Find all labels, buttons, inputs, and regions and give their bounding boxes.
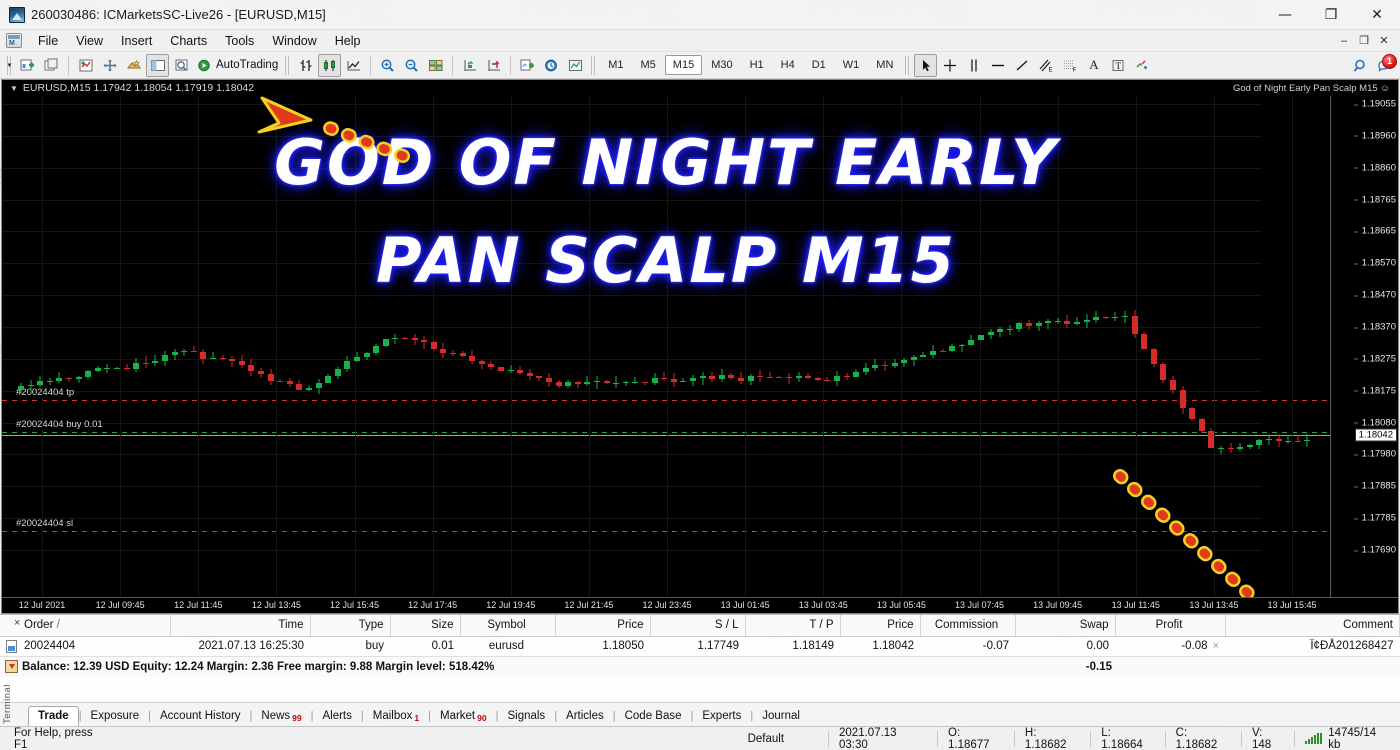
candlestick — [604, 380, 610, 384]
time-axis-tick: 13 Jul 03:45 — [799, 600, 848, 610]
vertical-line-icon[interactable] — [962, 54, 985, 77]
text-tool-glyph: A — [1089, 57, 1098, 73]
candle-body — [306, 388, 312, 390]
candle-body — [316, 383, 322, 388]
strategy-tester-icon[interactable] — [170, 54, 193, 77]
terminal-tab-account-history[interactable]: Account History — [151, 707, 250, 726]
grid-line-horizontal — [2, 104, 1262, 105]
timeframe-m30[interactable]: M30 — [703, 55, 740, 75]
toolbar-grip-4[interactable] — [905, 56, 910, 75]
candle-body — [402, 338, 408, 339]
candle-body — [1189, 408, 1195, 419]
candle-body — [911, 357, 917, 360]
candle-body — [680, 381, 686, 382]
terminal-tab-label: Articles — [566, 710, 604, 722]
candlestick — [335, 367, 341, 379]
terminal-tab-mailbox[interactable]: Mailbox1 — [364, 707, 428, 726]
candlestick — [1026, 320, 1032, 331]
candlestick — [757, 370, 763, 382]
candle-body — [1093, 317, 1099, 320]
time-axis-tick: 13 Jul 05:45 — [877, 600, 926, 610]
notification-badge: 1 — [1382, 54, 1397, 69]
candlestick — [968, 335, 974, 346]
profiles-icon[interactable] — [40, 54, 63, 77]
candlestick — [844, 373, 850, 380]
candlestick — [56, 372, 62, 383]
mdi-close-icon[interactable]: ✕ — [1374, 32, 1394, 50]
bar-chart-icon[interactable] — [294, 54, 317, 77]
terminal-tab-label: Exposure — [91, 710, 140, 722]
candlestick — [940, 349, 946, 352]
status-volume: V: 148 — [1241, 731, 1294, 747]
timeframe-m5[interactable]: M5 — [633, 55, 664, 75]
candle-body — [546, 378, 552, 382]
candlestick — [85, 370, 91, 379]
order-line-stroke — [2, 531, 1330, 532]
candle-body — [1036, 323, 1042, 325]
candlestick — [28, 380, 34, 392]
candle-body — [527, 373, 533, 376]
candlestick — [152, 355, 158, 366]
candle-body — [325, 376, 331, 383]
candlestick — [488, 361, 494, 370]
column-tp[interactable]: T / P — [745, 615, 840, 636]
candlestick — [498, 367, 504, 371]
terminal-tab-label: Account History — [160, 710, 241, 722]
candlestick — [133, 358, 139, 372]
grid-line-horizontal — [2, 359, 1262, 360]
svg-text:F: F — [1072, 67, 1076, 73]
terminal-tab-journal[interactable]: Journal — [753, 707, 809, 726]
grid-line-vertical — [1058, 96, 1059, 597]
autotrading-button[interactable]: AutoTrading — [194, 54, 281, 77]
column-size[interactable]: Size — [390, 615, 460, 636]
candle-body — [181, 351, 187, 352]
terminal-tabs: Terminal Trade|Exposure|Account History|… — [0, 702, 1400, 726]
terminal-tab-trade[interactable]: Trade — [28, 706, 79, 727]
candle-body — [863, 368, 869, 372]
periodicity-icon[interactable] — [540, 54, 563, 77]
terminal-tab-articles[interactable]: Articles — [557, 707, 613, 726]
candle-body — [1218, 448, 1224, 449]
candle-body — [652, 378, 658, 383]
menu-item-help[interactable]: Help — [326, 32, 370, 50]
cell-commission: -0.07 — [920, 636, 1015, 656]
terminal-tab-count: 99 — [292, 713, 301, 723]
grid-line-vertical — [589, 96, 590, 597]
cell-profit: -0.08× — [1115, 636, 1225, 656]
grid-line-horizontal — [2, 518, 1262, 519]
candlestick — [220, 355, 226, 360]
terminal-tab-signals[interactable]: Signals — [498, 707, 554, 726]
column-sl[interactable]: S / L — [650, 615, 745, 636]
candlestick — [1180, 386, 1186, 414]
candlestick — [373, 344, 379, 355]
terminal-tab-experts[interactable]: Experts — [693, 707, 750, 726]
timeframe-m1[interactable]: M1 — [600, 55, 631, 75]
candle-body — [1180, 390, 1186, 408]
grid-line-horizontal — [2, 200, 1262, 201]
time-axis-tick: 13 Jul 13:45 — [1189, 600, 1238, 610]
candle-body — [392, 338, 398, 340]
candle-body — [584, 382, 590, 383]
candlestick — [594, 376, 600, 389]
candle-body — [536, 376, 542, 378]
candle-body — [805, 376, 811, 378]
candle-body — [172, 352, 178, 355]
grid-line-vertical — [1292, 96, 1293, 597]
candle-body — [623, 382, 629, 383]
status-profile[interactable]: Default — [748, 733, 828, 745]
candle-body — [210, 358, 216, 359]
timeframe-h4[interactable]: H4 — [773, 55, 803, 75]
toolbar-grip-2[interactable] — [285, 56, 290, 75]
candlestick — [536, 376, 542, 381]
candlestick — [1247, 444, 1253, 448]
timeframe-w1[interactable]: W1 — [835, 55, 868, 75]
shift-end-icon[interactable] — [458, 54, 481, 77]
grid-line-vertical — [276, 96, 277, 597]
time-axis-tick: 12 Jul 23:45 — [642, 600, 691, 610]
grid-line-vertical — [667, 96, 668, 597]
close-icon[interactable]: ✕ — [1354, 0, 1400, 30]
menu-item-insert[interactable]: Insert — [112, 32, 161, 50]
candlestick — [997, 327, 1003, 338]
candle-body — [364, 353, 370, 357]
time-axis-tick: 13 Jul 01:45 — [721, 600, 770, 610]
column-price-cur[interactable]: Price — [840, 615, 920, 636]
column-commission[interactable]: Commission — [920, 615, 1015, 636]
candlestick — [479, 360, 485, 369]
candlestick — [892, 359, 898, 368]
zoom-in-icon[interactable] — [376, 54, 399, 77]
mdi-minimize-icon[interactable]: – — [1334, 32, 1354, 50]
candlestick — [392, 334, 398, 345]
candle-body — [1103, 317, 1109, 318]
navigator-icon[interactable] — [122, 54, 145, 77]
notifications-icon[interactable]: 1 — [1373, 54, 1396, 77]
candlestick — [316, 379, 322, 394]
fibonacci-icon[interactable]: F — [1058, 54, 1081, 77]
candle-body — [143, 363, 149, 364]
terminal-tab-label: Market — [440, 710, 475, 722]
candlestick — [1064, 315, 1070, 328]
candle-wick — [1269, 436, 1270, 445]
toolbar-grip-3[interactable] — [591, 56, 596, 75]
terminal-tab-market[interactable]: Market90 — [431, 707, 496, 726]
column-type[interactable]: Type — [310, 615, 390, 636]
timeframe-d1[interactable]: D1 — [804, 55, 834, 75]
candlestick-chart-icon[interactable] — [318, 54, 341, 77]
candlestick — [1199, 418, 1205, 432]
menu-item-view[interactable]: View — [67, 32, 112, 50]
candlestick — [661, 372, 667, 382]
candle-body — [757, 376, 763, 377]
candlestick — [287, 378, 293, 388]
grid-line-vertical — [980, 96, 981, 597]
table-row[interactable]: 20024404 2021.07.13 16:25:30 buy 0.01 eu… — [0, 636, 1400, 656]
candlestick — [1112, 312, 1118, 320]
terminal-panel-icon[interactable] — [146, 54, 169, 77]
terminal-tab-count: 90 — [477, 713, 486, 723]
candlestick — [1007, 325, 1013, 335]
candlestick — [1228, 443, 1234, 453]
grid-line-vertical — [511, 96, 512, 597]
candle-body — [719, 375, 725, 378]
terminal-tab-news[interactable]: News99 — [252, 707, 310, 726]
candle-body — [220, 358, 226, 359]
candle-body — [1199, 419, 1205, 432]
candle-body — [344, 361, 350, 368]
candlestick — [47, 378, 53, 384]
time-axis-tick: 13 Jul 11:45 — [1112, 600, 1160, 610]
templates-icon[interactable] — [564, 54, 587, 77]
candlestick — [863, 363, 869, 375]
candle-body — [76, 377, 82, 380]
order-line-label: #20024404 sl — [16, 518, 73, 529]
candlestick — [412, 334, 418, 346]
tile-windows-icon[interactable] — [424, 54, 447, 77]
cell-symbol: eurusd — [460, 636, 555, 656]
price-axis-tick: 1.19055 — [1362, 99, 1396, 110]
status-connection[interactable]: 14745/14 kb — [1294, 731, 1400, 747]
account-summary-row: Balance: 12.39 USD Equity: 12.24 Margin:… — [0, 656, 1400, 677]
candle-body — [239, 361, 245, 365]
candlestick — [1122, 311, 1128, 323]
status-close: C: 1.18682 — [1165, 731, 1241, 747]
status-bar: For Help, press F1 Default 2021.07.13 03… — [0, 726, 1400, 750]
cell-price-open: 1.18050 — [555, 636, 650, 656]
candlestick — [450, 350, 456, 357]
order-line-stroke — [2, 400, 1330, 401]
terminal-close-icon[interactable]: × — [14, 617, 20, 629]
candle-body — [604, 381, 610, 383]
candle-body — [1256, 440, 1262, 446]
column-swap[interactable]: Swap — [1015, 615, 1115, 636]
candle-body — [1170, 380, 1176, 390]
candlestick — [76, 376, 82, 383]
candlestick — [268, 369, 274, 385]
price-axis-tick: 1.18370 — [1362, 322, 1396, 333]
candle-body — [152, 361, 158, 363]
time-axis-tick: 12 Jul 11:45 — [174, 600, 222, 610]
candle-body — [47, 381, 53, 382]
time-axis-tick: 12 Jul 17:45 — [408, 600, 457, 610]
timeframe-mn[interactable]: MN — [868, 55, 901, 75]
terminal-vertical-label: Terminal — [2, 666, 13, 724]
terminal-tab-code-base[interactable]: Code Base — [616, 707, 691, 726]
candle-body — [114, 368, 120, 369]
toolbar-separator-4 — [510, 56, 511, 75]
candle-body — [1304, 440, 1310, 441]
document-icon — [6, 33, 22, 48]
candle-body — [431, 342, 437, 348]
terminal-tab-label: Experts — [702, 710, 741, 722]
candlestick — [834, 371, 840, 386]
arrows-icon[interactable] — [1130, 54, 1153, 77]
crosshair-icon[interactable] — [938, 54, 961, 77]
candlestick — [1237, 443, 1243, 451]
cell-profit-label: -0.08 — [1181, 640, 1207, 652]
minimize-icon[interactable]: — — [1262, 0, 1308, 30]
candle-body — [248, 365, 254, 371]
indicators-icon[interactable] — [516, 54, 539, 77]
candle-body — [469, 356, 475, 361]
candle-body — [690, 378, 696, 381]
candlestick — [988, 329, 994, 338]
order-line-stroke — [2, 432, 1330, 433]
column-price-open[interactable]: Price — [555, 615, 650, 636]
candlestick — [354, 352, 360, 361]
candle-body — [671, 379, 677, 382]
grid-line-vertical — [42, 96, 43, 597]
candlestick — [1132, 310, 1138, 338]
candle-body — [85, 371, 91, 377]
candlestick — [786, 373, 792, 384]
account-summary-profit: -0.15 — [1086, 661, 1400, 673]
candlestick — [575, 381, 581, 387]
close-order-icon[interactable]: × — [1213, 640, 1219, 652]
candlestick — [652, 373, 658, 385]
price-axis-tick: 1.18275 — [1362, 353, 1396, 364]
candlestick — [1218, 446, 1224, 454]
svg-text:E: E — [1048, 67, 1052, 73]
toolbar-separator — [68, 56, 69, 75]
candle-body — [796, 376, 802, 378]
time-axis[interactable]: 12 Jul 202112 Jul 09:4512 Jul 11:4512 Ju… — [2, 597, 1398, 613]
candlestick — [1304, 434, 1310, 446]
data-window-icon[interactable] — [98, 54, 121, 77]
terminal-tab-label: Code Base — [625, 710, 682, 722]
column-order[interactable]: Order / — [0, 615, 170, 636]
market-watch-icon[interactable] — [74, 54, 97, 77]
grid-line-horizontal — [2, 423, 1262, 424]
maximize-icon[interactable]: ❐ — [1308, 0, 1354, 30]
candlestick — [1266, 436, 1272, 445]
chart-menu-caret-icon[interactable]: ▼ — [10, 84, 18, 93]
candle-body — [1084, 320, 1090, 322]
line-chart-icon[interactable] — [342, 54, 365, 77]
candlestick — [1295, 435, 1301, 441]
equidistant-channel-icon[interactable]: E — [1034, 54, 1057, 77]
candle-body — [1160, 364, 1166, 379]
candlestick — [402, 337, 408, 338]
column-symbol[interactable]: Symbol — [460, 615, 555, 636]
column-time[interactable]: Time — [170, 615, 310, 636]
candlestick — [344, 356, 350, 372]
candle-body — [1285, 441, 1291, 442]
candlestick — [1170, 376, 1176, 394]
candle-body — [748, 376, 754, 381]
candle-body — [383, 339, 389, 346]
chart-plot-area[interactable]: #20024404 tp#20024404 buy 0.01#20024404 … — [2, 96, 1330, 597]
terminal-tab-alerts[interactable]: Alerts — [313, 707, 360, 726]
candle-body — [104, 368, 110, 369]
candlestick — [229, 356, 235, 367]
candlestick — [565, 380, 571, 388]
candle-body — [229, 359, 235, 362]
price-axis[interactable]: 1.190551.189601.188601.187651.186651.185… — [1330, 96, 1398, 597]
mdi-window-controls: – ❐ ✕ — [1334, 32, 1400, 50]
candle-body — [412, 338, 418, 340]
candle-body — [517, 370, 523, 373]
candle-wick — [232, 356, 233, 367]
menu-item-window[interactable]: Window — [263, 32, 325, 50]
search-icon[interactable] — [1349, 54, 1372, 77]
column-profit[interactable]: Profit — [1115, 615, 1225, 636]
candle-body — [133, 363, 139, 370]
candlestick — [306, 385, 312, 391]
candlestick — [383, 339, 389, 347]
candle-body — [882, 365, 888, 367]
chart-window[interactable]: ▼ EURUSD,M15 1.17942 1.18054 1.17919 1.1… — [1, 79, 1399, 614]
candlestick — [738, 372, 744, 384]
signal-strength-icon — [1305, 733, 1322, 744]
candlestick — [296, 380, 302, 390]
candlestick — [200, 349, 206, 364]
candlestick — [748, 374, 754, 384]
terminal-tab-exposure[interactable]: Exposure — [82, 707, 149, 726]
table-header-row: Order / Time Type Size Symbol Price S / … — [0, 615, 1400, 636]
price-axis-tick: 1.17785 — [1362, 513, 1396, 524]
candlestick — [546, 373, 552, 387]
horizontal-line-icon[interactable] — [986, 54, 1009, 77]
column-order-label: Order — [24, 619, 53, 631]
cursor-icon[interactable] — [914, 54, 937, 77]
menu-item-tools[interactable]: Tools — [216, 32, 263, 50]
candlestick — [172, 349, 178, 360]
toolbar-grip[interactable] — [7, 56, 12, 75]
candlestick — [364, 352, 370, 360]
cell-order[interactable]: 20024404 — [0, 636, 170, 656]
candlestick — [700, 372, 706, 385]
text-tool-icon[interactable]: A — [1082, 54, 1105, 77]
candlestick — [1036, 321, 1042, 331]
grid-line-vertical — [823, 96, 824, 597]
candlestick — [18, 383, 24, 394]
text-label-icon[interactable]: T — [1106, 54, 1129, 77]
menu-item-file[interactable]: File — [29, 32, 67, 50]
candlestick — [527, 369, 533, 381]
candlestick — [930, 345, 936, 359]
candle-wick — [587, 376, 588, 386]
cell-comment: Ï¢ÐÅ201268427 — [1225, 636, 1400, 656]
candle-body — [421, 340, 427, 343]
candle-body — [786, 377, 792, 379]
time-axis-tick: 12 Jul 19:45 — [486, 600, 535, 610]
candlestick — [421, 336, 427, 349]
price-axis-tick: 1.17690 — [1362, 545, 1396, 556]
chart-canvas[interactable]: #20024404 tp#20024404 buy 0.01#20024404 … — [2, 96, 1398, 597]
trendline-icon[interactable] — [1010, 54, 1033, 77]
zoom-out-icon[interactable] — [400, 54, 423, 77]
column-comment[interactable]: Comment — [1225, 615, 1400, 636]
timeframe-m15[interactable]: M15 — [665, 55, 702, 75]
timeframe-h1[interactable]: H1 — [742, 55, 772, 75]
auto-scroll-icon[interactable] — [482, 54, 505, 77]
candle-body — [479, 361, 485, 364]
mdi-restore-icon[interactable]: ❐ — [1354, 32, 1374, 50]
candle-body — [258, 371, 264, 374]
new-chart-icon[interactable] — [16, 54, 39, 77]
candle-body — [700, 376, 706, 379]
menu-item-charts[interactable]: Charts — [161, 32, 216, 50]
grid-line-vertical — [1214, 96, 1215, 597]
candle-body — [508, 370, 514, 371]
candle-body — [95, 368, 101, 371]
candlestick — [680, 378, 686, 383]
svg-text:T: T — [1115, 61, 1121, 71]
